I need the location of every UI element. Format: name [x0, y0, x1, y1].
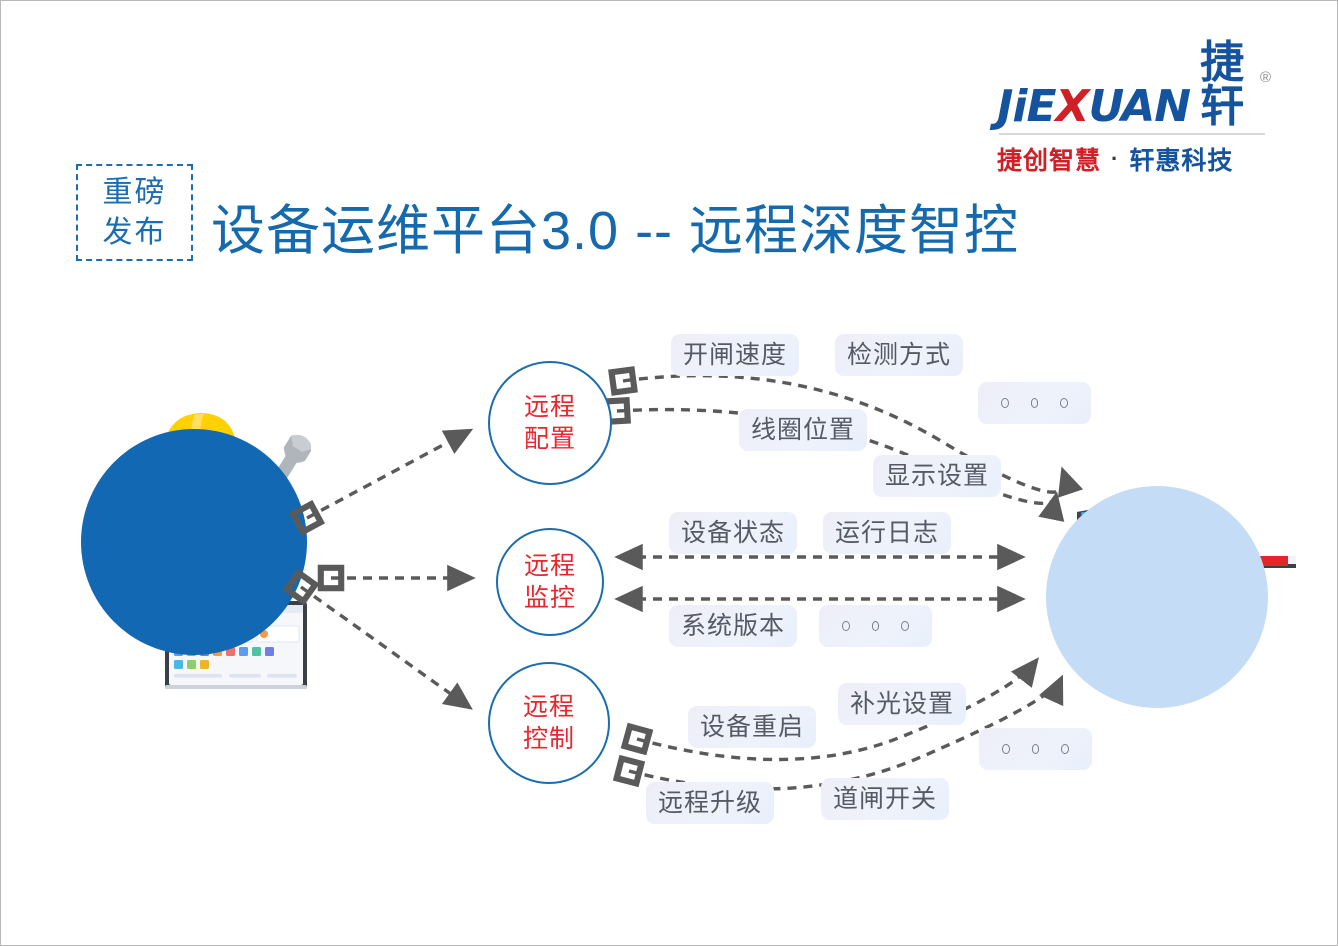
chip-display-setting-label: 显示设置	[885, 464, 989, 489]
node-remote-config-line1: 远程	[524, 391, 576, 424]
more-dot-icon	[842, 621, 850, 631]
tagline-separator-icon: ·	[1111, 146, 1119, 172]
chip-detect-mode-label: 检测方式	[847, 343, 951, 368]
chip-device-status[interactable]: 设备状态	[669, 512, 797, 554]
chip-system-version[interactable]: 系统版本	[669, 605, 797, 647]
chip-gate-speed-label: 开闸速度	[683, 343, 787, 368]
chip-remote-upgrade-label: 远程升级	[658, 791, 762, 816]
more-dot-icon	[1061, 744, 1069, 754]
chip-run-log[interactable]: 运行日志	[823, 512, 951, 554]
badge-line-2: 发布	[103, 213, 167, 253]
chip-gate-switch[interactable]: 道闸开关	[821, 778, 949, 820]
brand-logo: JiEXUAN 捷轩 ® 捷创智慧 · 轩惠科技	[997, 73, 1269, 178]
tagline-left: 捷创智慧	[997, 141, 1101, 177]
node-remote-control-line1: 远程	[523, 691, 575, 724]
node-remote-control[interactable]: 远程 控制	[488, 662, 610, 784]
node-remote-monitor-line1: 远程	[524, 550, 576, 583]
node-remote-config-line2: 配置	[524, 423, 576, 456]
technician-illustration	[79, 389, 311, 689]
chip-run-log-label: 运行日志	[835, 521, 939, 546]
chip-gate-switch-label: 道闸开关	[833, 787, 937, 812]
chip-device-reboot[interactable]: 设备重启	[688, 706, 816, 748]
chip-more-monitor[interactable]	[819, 605, 932, 647]
more-dot-icon	[901, 621, 909, 631]
logo-latin-text: JiE	[997, 85, 1056, 129]
page-title: 设备运维平台3.0 -- 远程深度智控	[211, 186, 1019, 265]
logo-tagline: 捷创智慧 · 轩惠科技	[997, 141, 1269, 177]
chip-fill-light[interactable]: 补光设置	[838, 683, 966, 725]
chip-remote-upgrade[interactable]: 远程升级	[646, 782, 774, 824]
chip-device-reboot-label: 设备重启	[700, 715, 804, 740]
more-dot-icon	[872, 621, 880, 631]
more-dot-icon	[1031, 398, 1039, 408]
logo-x-glyph: X	[1056, 85, 1089, 129]
logo-wordmark: JiEXUAN 捷轩 ®	[997, 73, 1269, 129]
chip-more-config[interactable]	[978, 382, 1091, 424]
chip-display-setting[interactable]: 显示设置	[873, 455, 1001, 497]
node-remote-monitor-line2: 监控	[524, 582, 576, 615]
more-dot-icon	[1060, 398, 1068, 408]
tagline-right: 轩惠科技	[1129, 141, 1233, 177]
node-remote-config[interactable]: 远程 配置	[488, 361, 612, 485]
wire-actor-to-control	[301, 587, 469, 707]
logo-divider	[999, 133, 1265, 135]
chip-coil-position[interactable]: 线圈位置	[739, 409, 867, 451]
node-remote-control-line2: 控制	[523, 723, 575, 756]
chip-system-version-label: 系统版本	[681, 614, 785, 639]
node-remote-monitor[interactable]: 远程 监控	[496, 528, 604, 636]
chip-fill-light-label: 补光设置	[850, 692, 954, 717]
logo-chinese-name: 捷轩	[1200, 41, 1269, 129]
release-badge: 重磅 发布	[76, 164, 193, 261]
poster-canvas: JiEXUAN 捷轩 ® 捷创智慧 · 轩惠科技 重磅 发布 设备运维平台3.0…	[0, 0, 1338, 946]
chip-more-control[interactable]	[979, 728, 1092, 770]
registered-mark-icon: ®	[1260, 69, 1271, 86]
chip-device-status-label: 设备状态	[681, 521, 785, 546]
wire-actor-to-config	[307, 431, 469, 518]
chip-detect-mode[interactable]: 检测方式	[835, 334, 963, 376]
chip-coil-position-label: 线圈位置	[751, 418, 855, 443]
parking-gate-illustration: P P	[1046, 486, 1298, 708]
more-dot-icon	[1032, 744, 1040, 754]
logo-latin-tail: UAN	[1088, 85, 1190, 129]
more-dot-icon	[1002, 744, 1010, 754]
technician-backdrop-circle	[81, 429, 307, 655]
device-backdrop-circle	[1046, 486, 1268, 708]
badge-line-1: 重磅	[103, 173, 167, 213]
more-dot-icon	[1001, 398, 1009, 408]
chip-gate-speed[interactable]: 开闸速度	[671, 334, 799, 376]
